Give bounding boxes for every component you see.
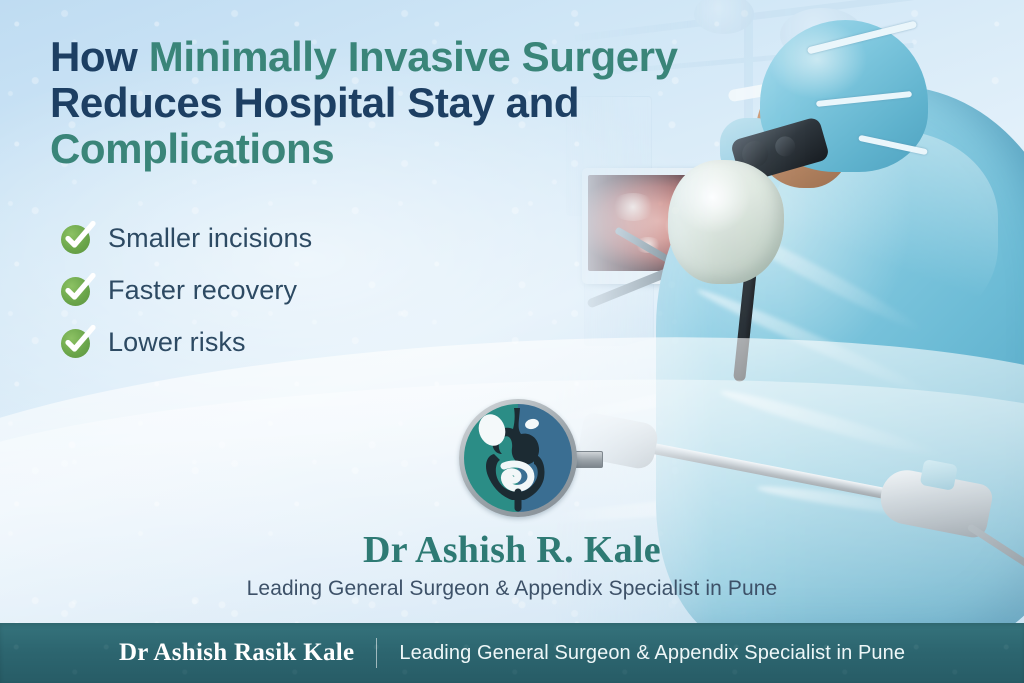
list-item: Lower risks — [60, 326, 312, 358]
check-circle-icon — [60, 222, 92, 254]
surgeon-gloved-hand — [668, 160, 784, 284]
gastro-digestive-system-logo — [464, 404, 572, 512]
list-item: Faster recovery — [60, 274, 312, 306]
footer-doctor-name: Dr Ashish Rasik Kale — [119, 639, 354, 667]
footer-bar: Dr Ashish Rasik Kale Leading General Sur… — [0, 623, 1024, 683]
footer-tagline: Leading General Surgeon & Appendix Speci… — [399, 642, 905, 665]
doctor-name: Dr Ashish R. Kale — [0, 528, 1024, 572]
headline-line2: Reduces Hospital Stay and — [50, 80, 750, 126]
list-item-label: Lower risks — [108, 327, 246, 358]
benefits-list: Smaller incisions Faster recovery Lower … — [60, 222, 312, 358]
headline-line3: Complications — [50, 126, 750, 172]
logo-outer-ring — [459, 399, 577, 517]
list-item-label: Smaller incisions — [108, 223, 312, 254]
doctor-tagline: Leading General Surgeon & Appendix Speci… — [0, 577, 1024, 601]
check-circle-icon — [60, 274, 92, 306]
list-item: Smaller incisions — [60, 222, 312, 254]
page-title: How Minimally Invasive Surgery Reduces H… — [50, 34, 750, 173]
headline-line1-highlight: Minimally Invasive Surgery — [149, 33, 678, 80]
banner-canvas: How Minimally Invasive Surgery Reduces H… — [0, 0, 1024, 683]
list-item-label: Faster recovery — [108, 275, 297, 306]
clinic-logo — [459, 399, 591, 525]
check-circle-icon — [60, 326, 92, 358]
headline-line1-prefix: How — [50, 33, 149, 80]
footer-divider — [376, 638, 377, 668]
